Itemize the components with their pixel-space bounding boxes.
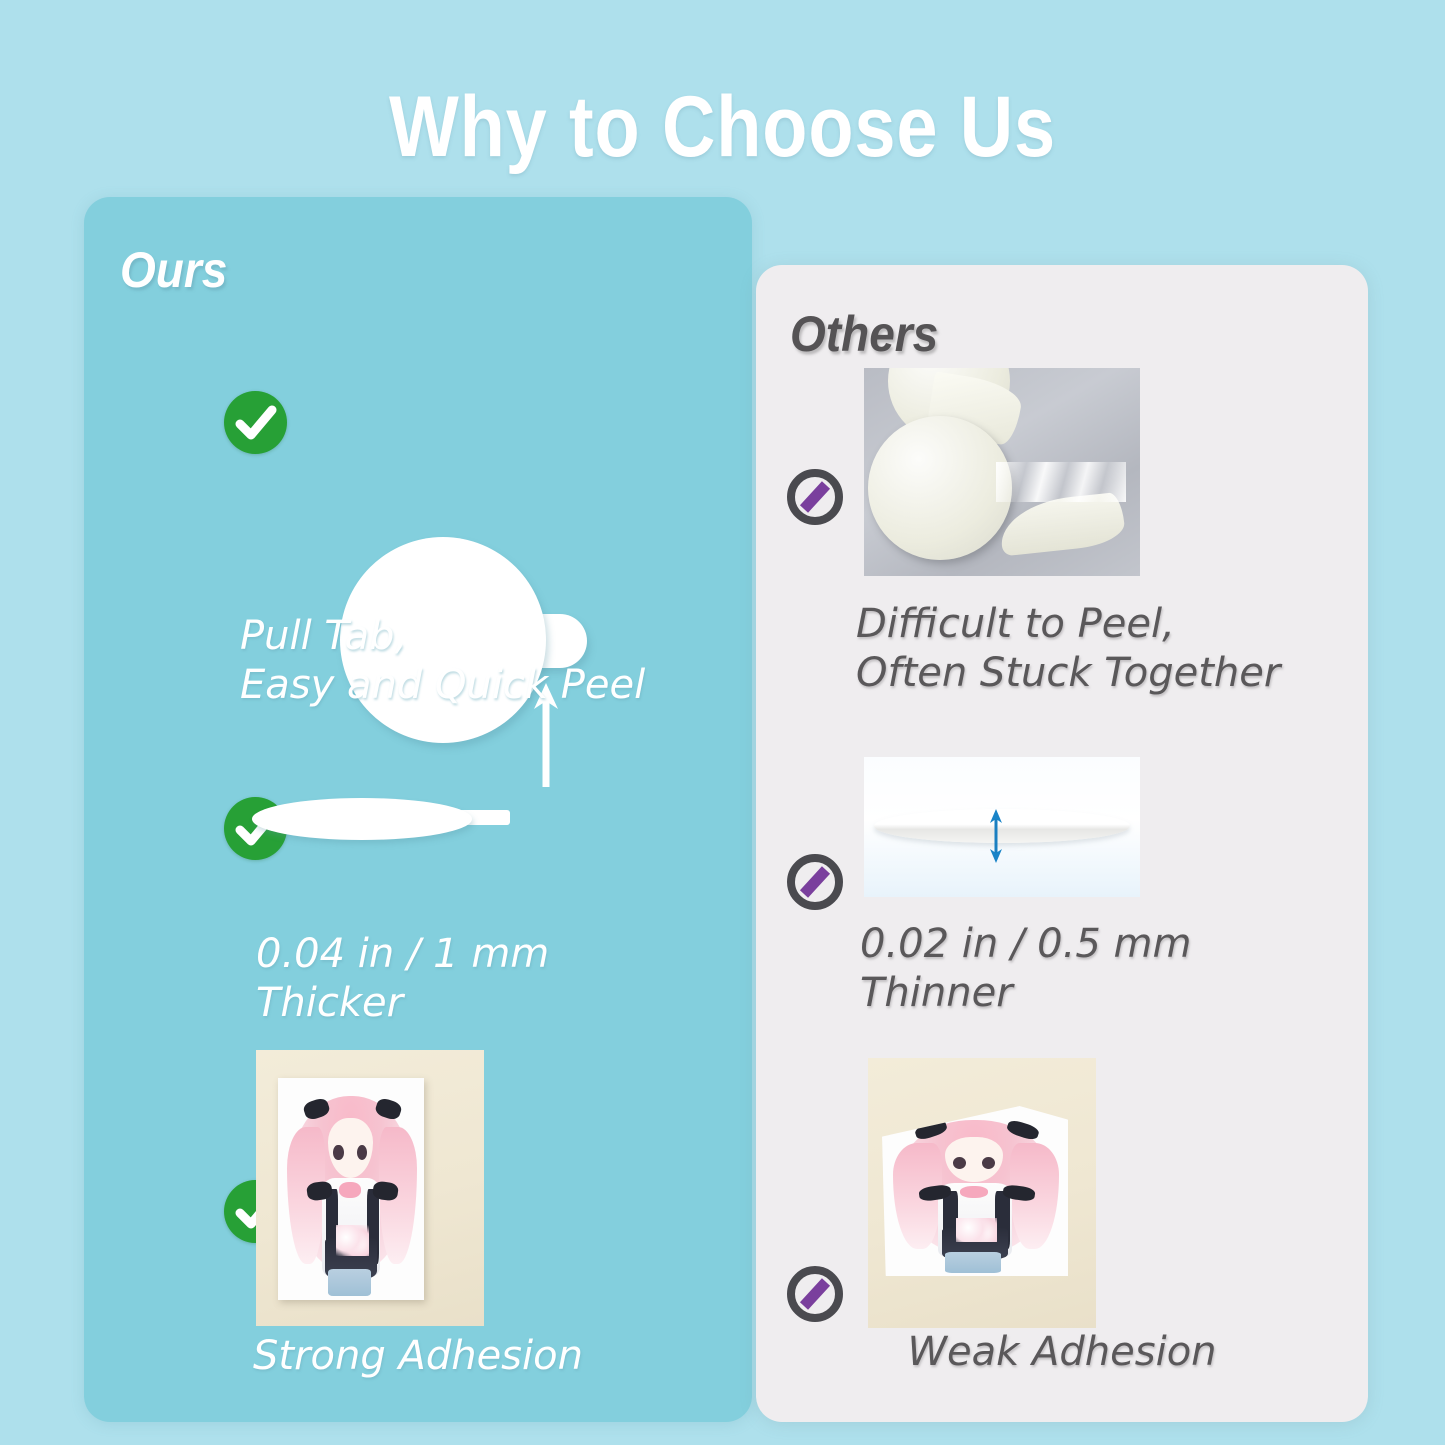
- caption-pull-tab: Pull Tab, Easy and Quick Peel: [240, 612, 645, 710]
- caption-adhesion: Weak Adhesion: [756, 1328, 1368, 1377]
- poster-sheet: [278, 1078, 424, 1300]
- check-circle-icon: [224, 391, 287, 454]
- caption-thickness: 0.02 in / 0.5 mm Thinner: [860, 920, 1191, 1018]
- caption-peel: Difficult to Peel, Often Stuck Together: [856, 600, 1280, 698]
- caption-adhesion: Strong Adhesion: [84, 1332, 752, 1381]
- photo-poster-peeling: [868, 1058, 1096, 1328]
- prohibition-icon: [786, 468, 844, 526]
- poster-artwork: [278, 1078, 424, 1300]
- poster-artwork: [882, 1106, 1068, 1276]
- prohibition-icon: [786, 853, 844, 911]
- illustration-thick-disc: [252, 790, 516, 852]
- panel-label-others: Others: [790, 305, 938, 363]
- panel-others: Others Difficult to Peel, Often Stuck To…: [756, 265, 1368, 1422]
- thick-disc-body: [252, 798, 472, 840]
- photo-thin-disc: [864, 757, 1140, 897]
- poster-sheet: [882, 1106, 1068, 1276]
- page-title: Why to Choose Us: [101, 78, 1344, 177]
- panel-ours: Ours Pull Tab, Easy and Quick Peel 0.04 …: [84, 197, 752, 1422]
- panel-label-ours: Ours: [120, 241, 227, 299]
- caption-thickness: 0.04 in / 1 mm Thicker: [256, 930, 549, 1028]
- prohibition-icon: [786, 1265, 844, 1323]
- photo-poster-flat: [256, 1050, 484, 1326]
- thickness-measure-arrow-icon: [988, 809, 1004, 863]
- photo-stuck-stickers: [864, 368, 1140, 576]
